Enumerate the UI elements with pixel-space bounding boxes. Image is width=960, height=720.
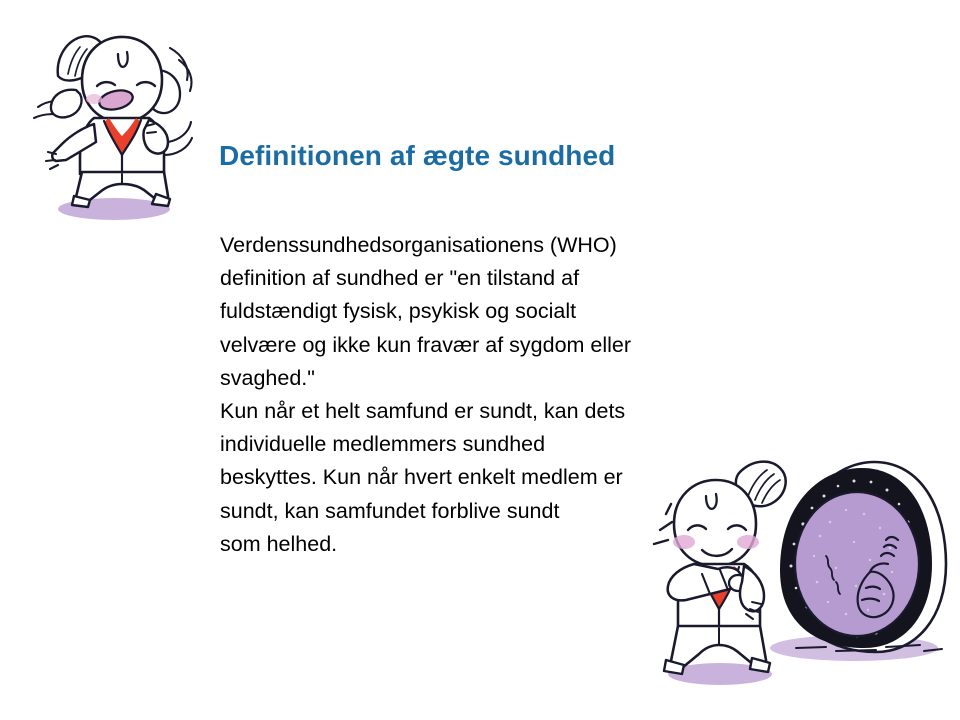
blush-shape <box>86 94 102 104</box>
blush-shape <box>673 535 695 549</box>
page-title: Definitionen af ægte sundhed <box>219 139 839 173</box>
blush-shape <box>737 535 759 549</box>
body-line: Verdenssundhedsorganisationens (WHO) <box>220 229 780 262</box>
head-shape <box>674 480 756 566</box>
body-line: svaghed." <box>220 362 780 395</box>
body-line: definition af sundhed er "en tilstand af <box>220 262 780 295</box>
body-line: velvære og ikke kun fravær af sygdom ell… <box>220 329 780 362</box>
body-line: fuldstændigt fysisk, psykisk og socialt <box>220 295 780 328</box>
head-shape <box>82 37 162 122</box>
tire-inner-hole-shape <box>795 492 919 636</box>
slide-canvas: Definitionen af ægte sundhed Verdenssund… <box>0 0 960 720</box>
body-line: Kun når et helt samfund er sundt, kan de… <box>220 395 780 428</box>
cartoon-figure-exercising-illustration <box>18 14 208 226</box>
cartoon-figure-with-tire-illustration <box>640 452 952 704</box>
